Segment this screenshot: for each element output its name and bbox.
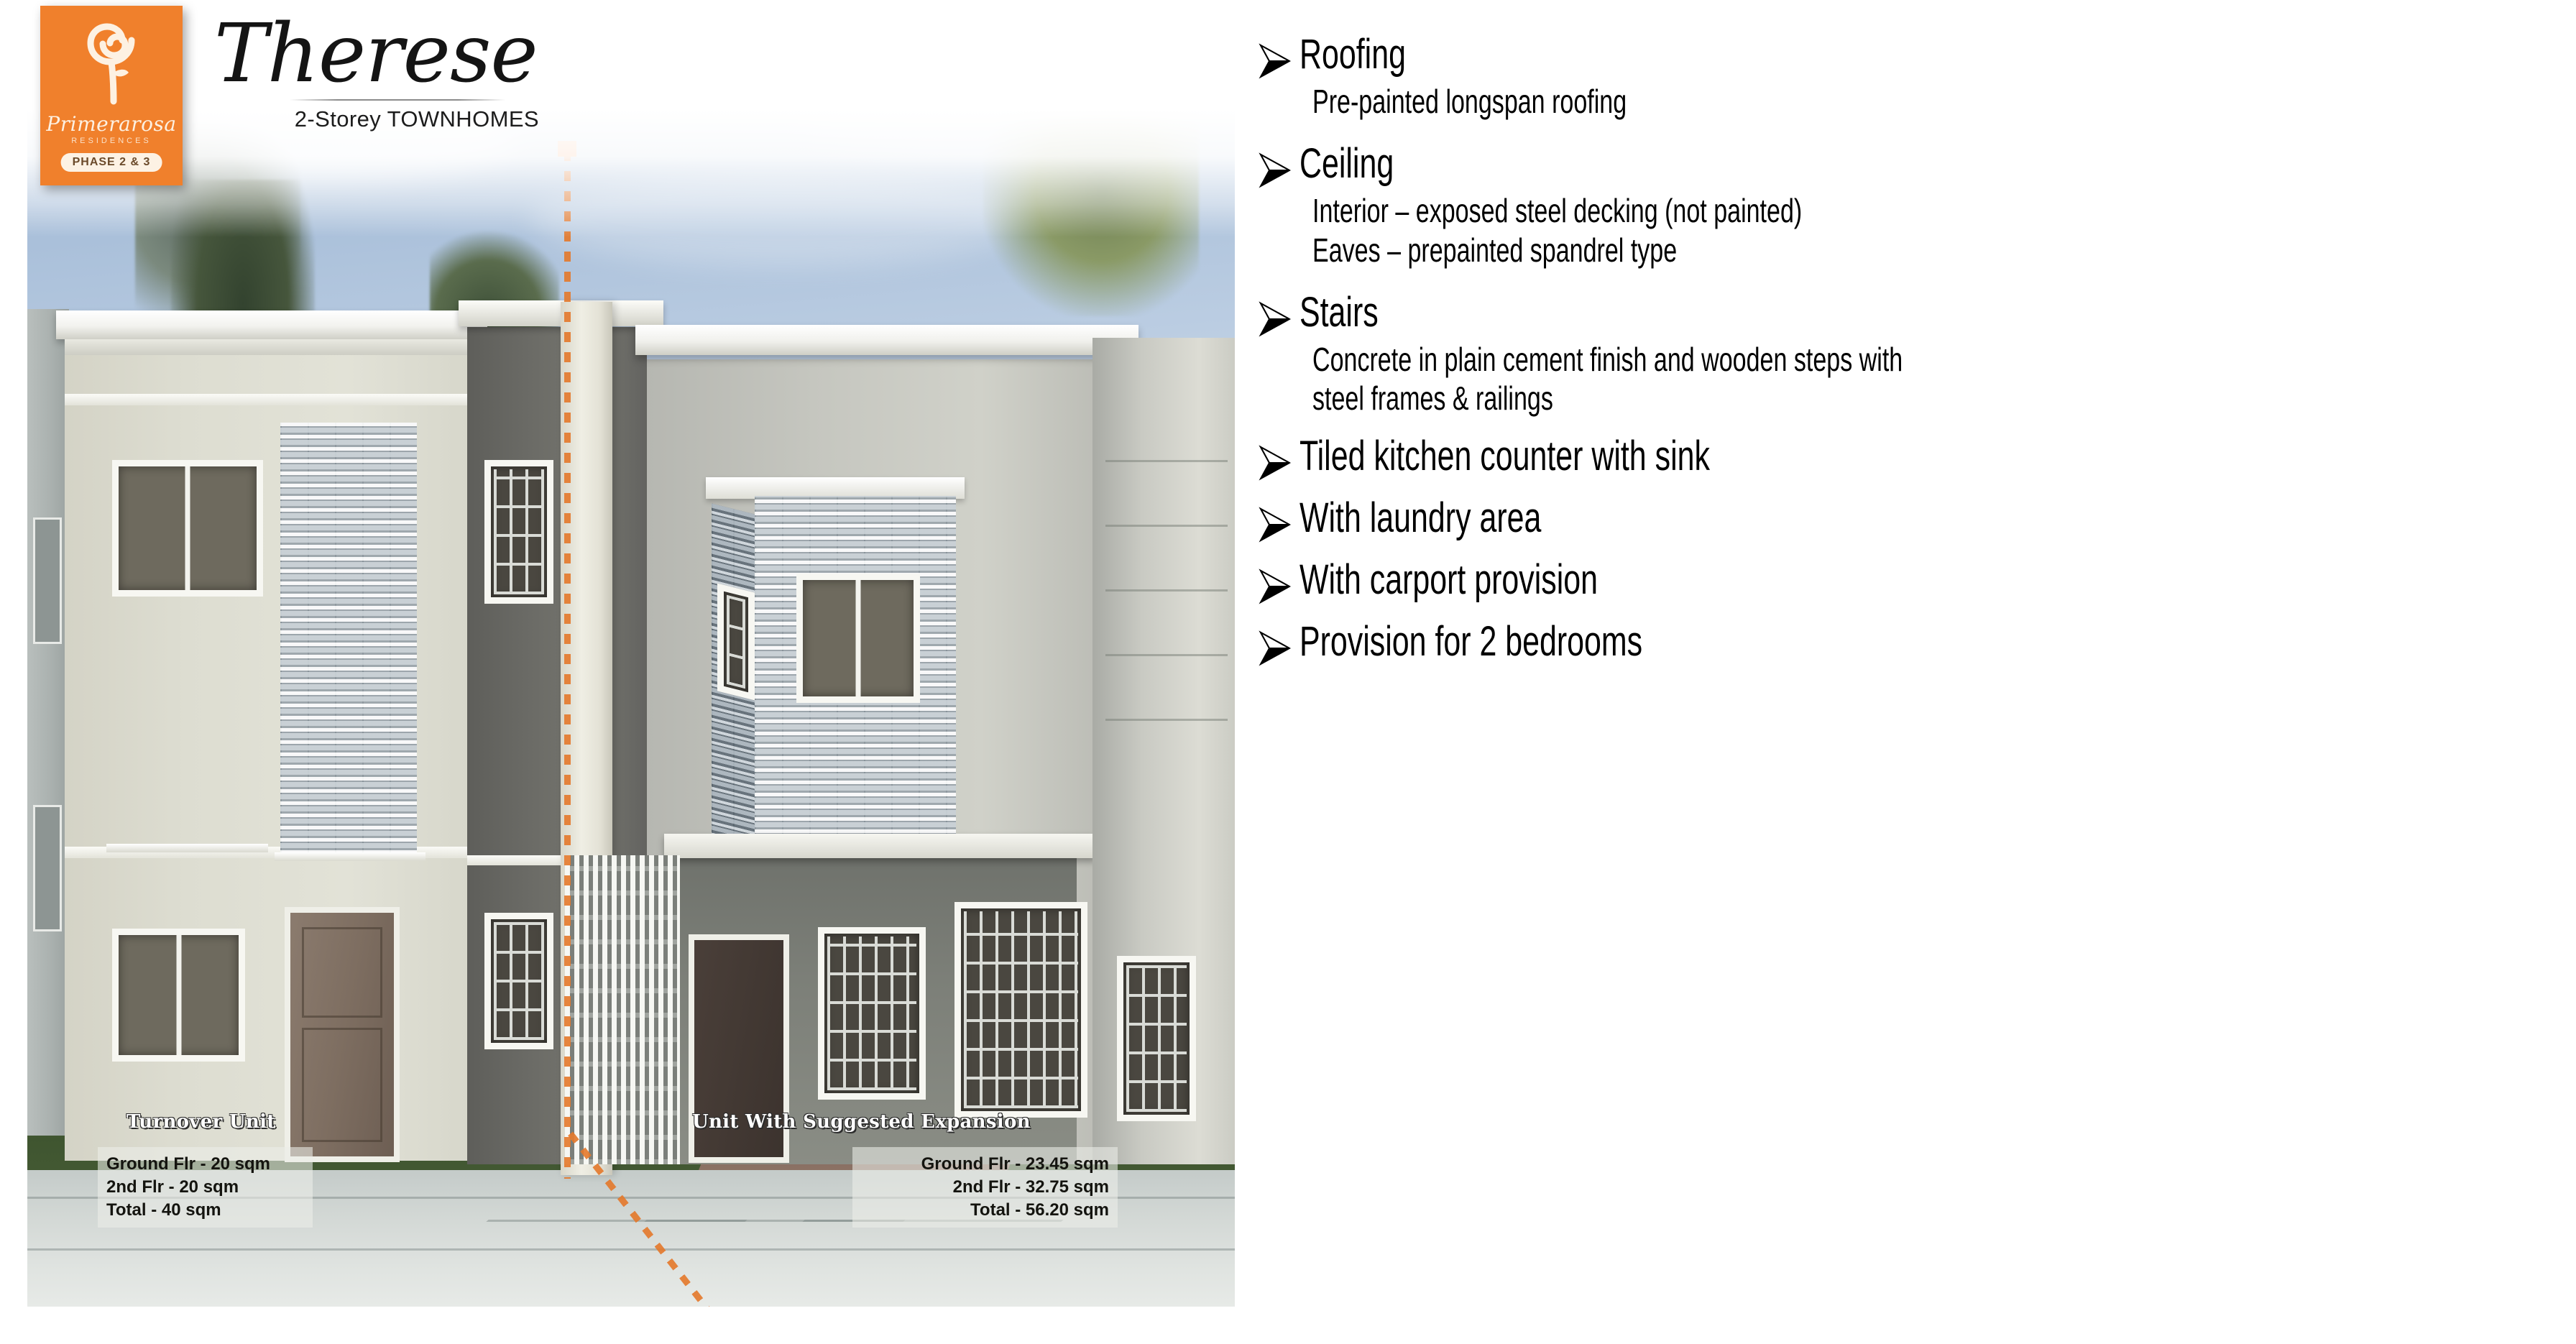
- window-upper-right: [796, 574, 920, 703]
- spec-panel-expansion: Ground Flr - 23.45 sqm 2nd Flr - 32.75 s…: [852, 1147, 1118, 1228]
- arrowhead-bullet-icon: [1258, 620, 1299, 666]
- feature-detail: steel frames & railings: [1312, 379, 2576, 418]
- spec-panel-turnover: Ground Flr - 20 sqm 2nd Flr - 20 sqm Tot…: [98, 1147, 313, 1228]
- feature-heading: Provision for 2 bedrooms: [1299, 620, 1642, 663]
- stone-veneer-panel: [280, 423, 417, 854]
- window-upper-middle: [484, 460, 553, 604]
- roof-fascia: [56, 310, 487, 339]
- wall-joint: [1105, 589, 1228, 592]
- caption-turnover-unit: Turnover Unit: [126, 1111, 276, 1133]
- adjacent-unit-left: [27, 309, 69, 1136]
- window-lower-middle: [484, 913, 553, 1049]
- roof-fascia: [635, 325, 1138, 355]
- window-ground-right: [818, 927, 926, 1100]
- feature-heading-row: Roofing: [1258, 33, 2552, 79]
- window-upper-left: [112, 460, 263, 597]
- roof-soffit: [65, 339, 479, 355]
- second-floor-bay: [712, 496, 956, 870]
- pavement-joint: [27, 1248, 1235, 1251]
- feature-detail: Interior – exposed steel decking (not pa…: [1312, 191, 2576, 230]
- arrowhead-bullet-icon: [1258, 435, 1299, 481]
- feature-group-carport: With carport provision: [1258, 558, 2552, 604]
- arrowhead-bullet-icon: [1258, 497, 1299, 543]
- model-title-block: Therese 2-Storey TOWNHOMES: [207, 13, 545, 132]
- wall-band: [65, 394, 467, 405]
- window-side: [717, 584, 755, 701]
- spec-line: Ground Flr - 23.45 sqm: [861, 1153, 1109, 1176]
- project-logo-badge: Primerarosa RESIDENCES PHASE 2 & 3: [40, 6, 183, 185]
- feature-heading: Tiled kitchen counter with sink: [1299, 435, 1710, 478]
- feature-group-ceiling: Ceiling Interior – exposed steel decking…: [1258, 142, 2552, 270]
- feature-group-roofing: Roofing Pre-painted longspan roofing: [1258, 33, 2552, 121]
- rose-swirl-icon: [77, 16, 146, 116]
- features-list: Roofing Pre-painted longspan roofing Cei…: [1258, 33, 2552, 682]
- door-panel: [302, 927, 382, 1018]
- feature-group-kitchen: Tiled kitchen counter with sink: [1258, 435, 2552, 481]
- feature-group-stairs: Stairs Concrete in plain cement finish a…: [1258, 291, 2552, 418]
- feature-heading: Roofing: [1299, 33, 1406, 76]
- spec-line: 2nd Flr - 32.75 sqm: [861, 1176, 1109, 1199]
- arrowhead-bullet-icon: [1258, 33, 1299, 79]
- wall-joint: [1105, 654, 1228, 656]
- wall-joint: [1105, 719, 1228, 721]
- arrowhead-bullet-icon: [1258, 142, 1299, 188]
- spec-line: Total - 40 sqm: [106, 1199, 304, 1222]
- carport-beam: [664, 834, 1095, 858]
- feature-group-bedrooms: Provision for 2 bedrooms: [1258, 620, 2552, 666]
- logo-wordmark: Primerarosa: [40, 112, 183, 136]
- spec-line: 2nd Flr - 20 sqm: [106, 1176, 304, 1199]
- feature-heading-row: Ceiling: [1258, 142, 2552, 188]
- spec-line: Ground Flr - 20 sqm: [106, 1153, 304, 1176]
- feature-detail: Pre-painted longspan roofing: [1312, 82, 2576, 121]
- sliding-door-grill: [954, 902, 1087, 1118]
- spec-line: Total - 56.20 sqm: [861, 1199, 1109, 1222]
- door-panel: [302, 1028, 382, 1142]
- phase-badge: PHASE 2 & 3: [61, 153, 162, 172]
- arrowhead-bullet-icon: [1258, 558, 1299, 604]
- model-subtitle: 2-Storey TOWNHOMES: [207, 106, 545, 132]
- window-right-neighbour: [1117, 956, 1196, 1121]
- front-door: [285, 907, 400, 1162]
- feature-heading: With laundry area: [1299, 497, 1541, 540]
- window: [33, 517, 62, 644]
- wall-joint: [1105, 460, 1228, 462]
- feature-heading: With carport provision: [1299, 558, 1598, 602]
- model-name: Therese: [207, 13, 545, 95]
- feature-group-laundry: With laundry area: [1258, 497, 2552, 543]
- feature-detail: Concrete in plain cement finish and wood…: [1312, 340, 2576, 379]
- feature-detail: Eaves – prepainted spandrel type: [1312, 231, 2576, 270]
- window-sill: [106, 844, 268, 852]
- wall-joint: [1105, 525, 1228, 527]
- project-render-photo: Turnover Unit Ground Flr - 20 sqm 2nd Fl…: [27, 0, 1235, 1307]
- carport-gate-grill: [565, 855, 680, 1164]
- window: [33, 805, 62, 931]
- window-sill: [275, 852, 425, 861]
- caption-expansion-unit: Unit With Suggested Expansion: [692, 1111, 1031, 1133]
- logo-subtitle: RESIDENCES: [40, 137, 183, 145]
- feature-heading: Stairs: [1299, 291, 1379, 334]
- feature-heading: Ceiling: [1299, 142, 1394, 185]
- window-lower-left: [112, 929, 245, 1062]
- feature-heading-row: Stairs: [1258, 291, 2552, 337]
- arrowhead-bullet-icon: [1258, 291, 1299, 337]
- dashed-divider-line: [564, 151, 571, 1179]
